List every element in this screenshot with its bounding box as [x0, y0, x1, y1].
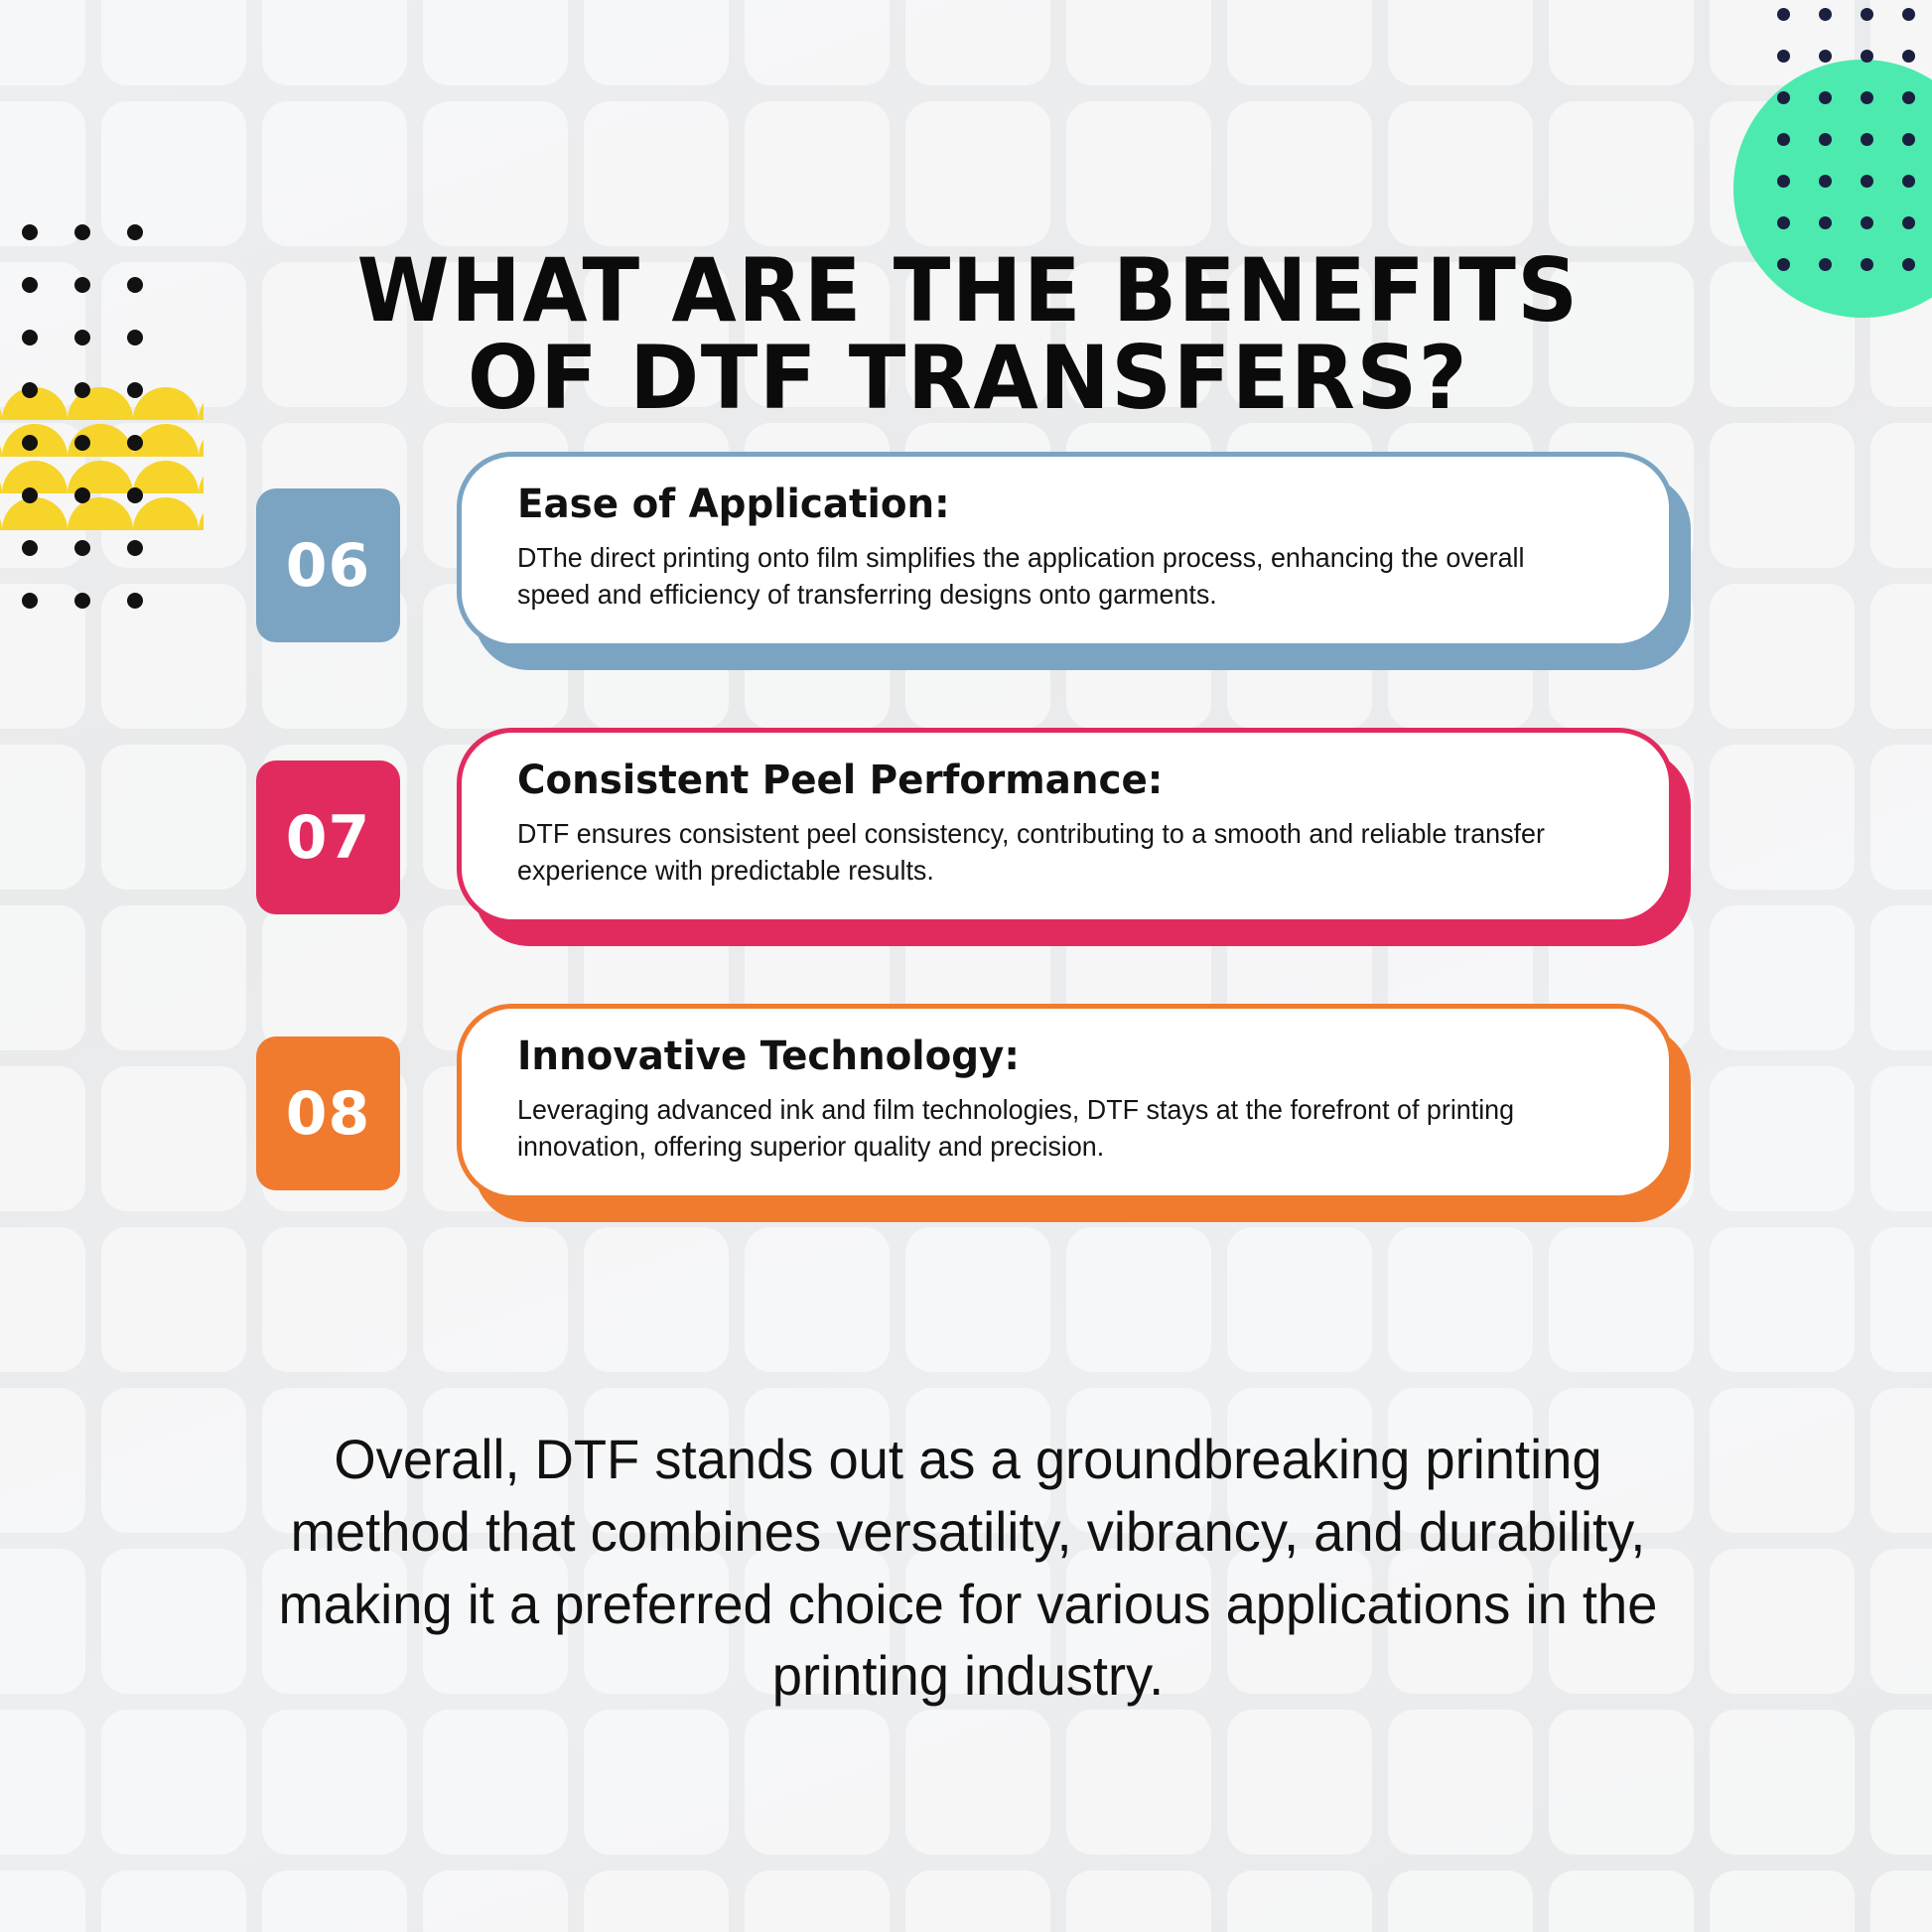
dot	[127, 224, 143, 240]
closing-paragraph: Overall, DTF stands out as a groundbreak…	[250, 1424, 1685, 1713]
grid-cell	[0, 1549, 85, 1694]
grid-cell	[905, 0, 1050, 85]
grid-cell	[101, 0, 246, 85]
grid-cell	[584, 0, 729, 85]
dot	[74, 435, 90, 451]
grid-cell	[1227, 0, 1372, 85]
dot	[1777, 91, 1790, 104]
grid-cell	[1870, 1870, 1932, 1932]
grid-cell	[745, 1710, 890, 1855]
page-title: WHAT ARE THE BENEFITS OF DTF TRANSFERS?	[277, 247, 1659, 422]
grid-cell	[423, 101, 568, 246]
dot	[127, 330, 143, 345]
card-panel: Consistent Peel Performance:DTF ensures …	[457, 728, 1674, 924]
grid-cell	[745, 1870, 890, 1932]
grid-cell	[1388, 101, 1533, 246]
card-body-text: Leveraging advanced ink and film technol…	[517, 1092, 1547, 1166]
grid-cell	[262, 1870, 407, 1932]
card-title: Ease of Application:	[517, 483, 1590, 526]
dot	[1861, 50, 1873, 63]
dot	[127, 382, 143, 398]
dot	[22, 487, 38, 503]
benefit-card-07: 07Consistent Peel Performance:DTF ensure…	[0, 728, 1932, 981]
card-number-text: 08	[286, 1079, 371, 1149]
grid-cell	[1710, 1388, 1855, 1533]
dot	[1902, 133, 1915, 146]
dot	[22, 382, 38, 398]
benefit-card-08: 08Innovative Technology:Leveraging advan…	[0, 1004, 1932, 1257]
dot	[1861, 8, 1873, 21]
card-title: Consistent Peel Performance:	[517, 759, 1590, 802]
grid-cell	[0, 0, 85, 85]
dot	[1819, 216, 1832, 229]
benefit-card-06: 06Ease of Application:DThe direct printi…	[0, 452, 1932, 705]
card-body-text: DThe direct printing onto film simplifie…	[517, 540, 1547, 614]
grid-cell	[1549, 1710, 1694, 1855]
card-panel: Innovative Technology:Leveraging advance…	[457, 1004, 1674, 1200]
benefits-card-list: 06Ease of Application:DThe direct printi…	[0, 452, 1932, 1280]
dot	[1777, 133, 1790, 146]
grid-cell	[1549, 1870, 1694, 1932]
card-number-badge: 06	[256, 488, 400, 642]
dot	[1819, 91, 1832, 104]
grid-cell	[1870, 1388, 1932, 1533]
grid-cell	[1066, 1870, 1211, 1932]
dot	[22, 540, 38, 556]
grid-cell	[423, 0, 568, 85]
dot	[1819, 50, 1832, 63]
grid-cell	[423, 1710, 568, 1855]
grid-cell	[101, 101, 246, 246]
card-number-text: 07	[286, 803, 371, 873]
grid-cell	[905, 101, 1050, 246]
grid-cell	[0, 1710, 85, 1855]
dot	[1861, 91, 1873, 104]
grid-cell	[262, 0, 407, 85]
grid-cell	[1710, 1710, 1855, 1855]
card-title: Innovative Technology:	[517, 1035, 1590, 1078]
dot	[1902, 8, 1915, 21]
grid-cell	[1066, 1710, 1211, 1855]
card-panel: Ease of Application:DThe direct printing…	[457, 452, 1674, 648]
grid-cell	[1710, 1870, 1855, 1932]
dot	[1819, 133, 1832, 146]
infographic-canvas: WHAT ARE THE BENEFITS OF DTF TRANSFERS? …	[0, 0, 1932, 1932]
dot	[74, 277, 90, 293]
grid-cell	[1388, 1870, 1533, 1932]
dot	[74, 382, 90, 398]
grid-cell	[584, 1870, 729, 1932]
grid-cell	[0, 1870, 85, 1932]
grid-cell	[905, 1710, 1050, 1855]
dot	[1777, 8, 1790, 21]
dot	[1819, 8, 1832, 21]
dot	[1861, 258, 1873, 271]
card-body-text: DTF ensures consistent peel consistency,…	[517, 816, 1547, 890]
dot	[74, 487, 90, 503]
card-number-text: 06	[286, 531, 371, 601]
dot	[1777, 216, 1790, 229]
grid-cell	[584, 101, 729, 246]
dot	[1861, 175, 1873, 188]
dot	[127, 487, 143, 503]
grid-cell	[423, 1870, 568, 1932]
grid-cell	[101, 1870, 246, 1932]
dot	[127, 435, 143, 451]
dot	[1861, 133, 1873, 146]
card-number-badge: 08	[256, 1036, 400, 1190]
grid-cell	[745, 101, 890, 246]
grid-cell	[1870, 1710, 1932, 1855]
dot	[127, 593, 143, 609]
dot	[22, 435, 38, 451]
grid-cell	[1388, 1710, 1533, 1855]
dot	[1902, 175, 1915, 188]
dot	[1819, 175, 1832, 188]
dot	[74, 540, 90, 556]
dot	[1861, 216, 1873, 229]
grid-cell	[584, 1710, 729, 1855]
dot	[1777, 50, 1790, 63]
dot	[22, 277, 38, 293]
grid-cell	[905, 1870, 1050, 1932]
grid-cell	[1549, 101, 1694, 246]
dot	[74, 330, 90, 345]
grid-cell	[101, 1710, 246, 1855]
dot	[1777, 258, 1790, 271]
grid-cell	[1227, 101, 1372, 246]
dot	[127, 540, 143, 556]
grid-cell	[1066, 0, 1211, 85]
dot	[1902, 216, 1915, 229]
grid-cell	[0, 101, 85, 246]
grid-cell	[262, 1710, 407, 1855]
dot	[127, 277, 143, 293]
grid-cell	[101, 1388, 246, 1533]
dot	[1777, 175, 1790, 188]
semicircle	[133, 387, 199, 420]
grid-cell	[101, 1549, 246, 1694]
dot	[1902, 50, 1915, 63]
grid-cell	[1710, 1549, 1855, 1694]
dot	[22, 224, 38, 240]
dot	[74, 593, 90, 609]
dot	[1819, 258, 1832, 271]
dot	[1902, 91, 1915, 104]
dot	[74, 224, 90, 240]
dot	[22, 593, 38, 609]
dot	[1902, 258, 1915, 271]
grid-cell	[1227, 1710, 1372, 1855]
card-number-badge: 07	[256, 760, 400, 914]
grid-cell	[0, 1388, 85, 1533]
grid-cell	[0, 262, 85, 407]
grid-cell	[1066, 101, 1211, 246]
grid-cell	[745, 0, 890, 85]
grid-cell	[101, 262, 246, 407]
grid-cell	[1388, 0, 1533, 85]
grid-cell	[262, 101, 407, 246]
dot	[22, 330, 38, 345]
grid-cell	[1870, 1549, 1932, 1694]
grid-cell	[1227, 1870, 1372, 1932]
semicircle	[199, 387, 204, 420]
grid-cell	[1549, 0, 1694, 85]
